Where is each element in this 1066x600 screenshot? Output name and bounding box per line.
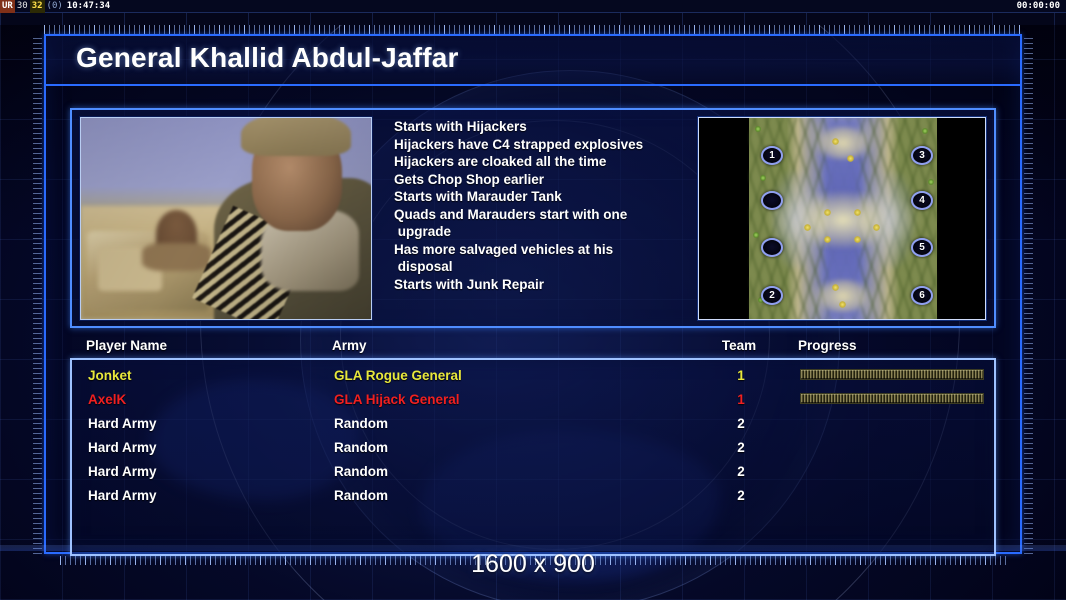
ability-item: Starts with Hijackers — [394, 118, 694, 136]
start-position-4[interactable]: 4 — [911, 191, 933, 210]
tree-icon — [928, 179, 934, 185]
resolution-label: 1600 x 900 — [0, 550, 1066, 579]
table-row[interactable]: Hard Army Random 2 — [72, 484, 998, 508]
player-progress-bar — [800, 369, 984, 380]
player-table-header: Player Name Army Team Progress — [70, 338, 996, 360]
player-team: 2 — [720, 436, 762, 460]
supply-dock-icon — [824, 236, 831, 243]
start-position-empty[interactable] — [761, 191, 783, 210]
title-bar: General Khallid Abdul-Jaffar — [46, 36, 1020, 86]
player-name: Hard Army — [88, 460, 157, 484]
page-title: General Khallid Abdul-Jaffar — [76, 42, 459, 74]
ability-item: Gets Chop Shop earlier — [394, 171, 694, 189]
general-ability-list: Starts with Hijackers Hijackers have C4 … — [394, 118, 694, 293]
player-team: 1 — [720, 364, 762, 388]
ruler-left — [33, 34, 42, 554]
table-row[interactable]: AxelK GLA Hijack General 1 — [72, 388, 998, 412]
tree-icon — [755, 126, 761, 132]
table-row[interactable]: Jonket GLA Rogue General 1 — [72, 364, 998, 388]
status-bar: UR3032(0)10:47:34 00:00:00 — [0, 0, 1066, 13]
status-bracket: (0) — [45, 0, 65, 13]
game-lobby-screen: UR3032(0)10:47:34 00:00:00 General Khall… — [0, 0, 1066, 600]
map-south-sand — [819, 279, 867, 313]
start-position-6[interactable]: 6 — [911, 286, 933, 305]
player-name: AxelK — [88, 388, 126, 412]
player-army: Random — [334, 484, 388, 508]
map-preview[interactable]: 1 2 3 4 5 6 — [698, 117, 986, 320]
ability-item: Quads and Marauders start with one upgra… — [394, 206, 694, 241]
start-position-empty[interactable] — [761, 238, 783, 257]
player-team: 2 — [720, 484, 762, 508]
column-header-team: Team — [718, 338, 760, 353]
general-portrait — [80, 117, 372, 320]
player-progress-bar — [800, 393, 984, 404]
status-timer: 00:00:00 — [1017, 0, 1060, 13]
ability-item: Hijackers are cloaked all the time — [394, 153, 694, 171]
supply-dock-icon — [804, 224, 811, 231]
map-north-sand — [819, 126, 867, 160]
supply-dock-icon — [854, 236, 861, 243]
table-row[interactable]: Hard Army Random 2 — [72, 436, 998, 460]
column-header-player-name: Player Name — [86, 338, 167, 353]
start-position-2[interactable]: 2 — [761, 286, 783, 305]
player-team: 2 — [720, 460, 762, 484]
tree-icon — [753, 232, 759, 238]
ability-item: Starts with Marauder Tank — [394, 188, 694, 206]
ruler-top — [44, 25, 1022, 34]
status-clock: 10:47:34 — [65, 0, 112, 13]
player-name: Hard Army — [88, 436, 157, 460]
player-team: 2 — [720, 412, 762, 436]
status-label: UR — [0, 0, 15, 13]
table-row[interactable]: Hard Army Random 2 — [72, 412, 998, 436]
player-army: Random — [334, 412, 388, 436]
portrait-shading — [81, 118, 371, 319]
status-value2: 32 — [30, 0, 45, 13]
status-bar-grid — [0, 13, 1066, 25]
player-army: GLA Rogue General — [334, 364, 462, 388]
ability-item: Starts with Junk Repair — [394, 276, 694, 294]
map-center-sand — [797, 191, 889, 249]
start-position-5[interactable]: 5 — [911, 238, 933, 257]
player-team: 1 — [720, 388, 762, 412]
player-army: Random — [334, 436, 388, 460]
player-army: GLA Hijack General — [334, 388, 460, 412]
start-position-1[interactable]: 1 — [761, 146, 783, 165]
player-army: Random — [334, 460, 388, 484]
ability-item: Hijackers have C4 strapped explosives — [394, 136, 694, 154]
column-header-army: Army — [332, 338, 367, 353]
supply-dock-icon — [847, 155, 854, 162]
portrait-image — [81, 118, 371, 319]
start-position-3[interactable]: 3 — [911, 146, 933, 165]
general-info-panel: Starts with Hijackers Hijackers have C4 … — [70, 108, 996, 328]
supply-dock-icon — [839, 301, 846, 308]
supply-dock-icon — [832, 138, 839, 145]
table-row[interactable]: Hard Army Random 2 — [72, 460, 998, 484]
player-table: Jonket GLA Rogue General 1 AxelK GLA Hij… — [70, 358, 996, 556]
status-value1: 30 — [15, 0, 30, 13]
ruler-right — [1024, 34, 1033, 554]
player-name: Hard Army — [88, 412, 157, 436]
supply-dock-icon — [873, 224, 880, 231]
player-name: Hard Army — [88, 484, 157, 508]
player-name: Jonket — [88, 364, 132, 388]
ability-item: Has more salvaged vehicles at his dispos… — [394, 241, 694, 276]
column-header-progress: Progress — [798, 338, 857, 353]
